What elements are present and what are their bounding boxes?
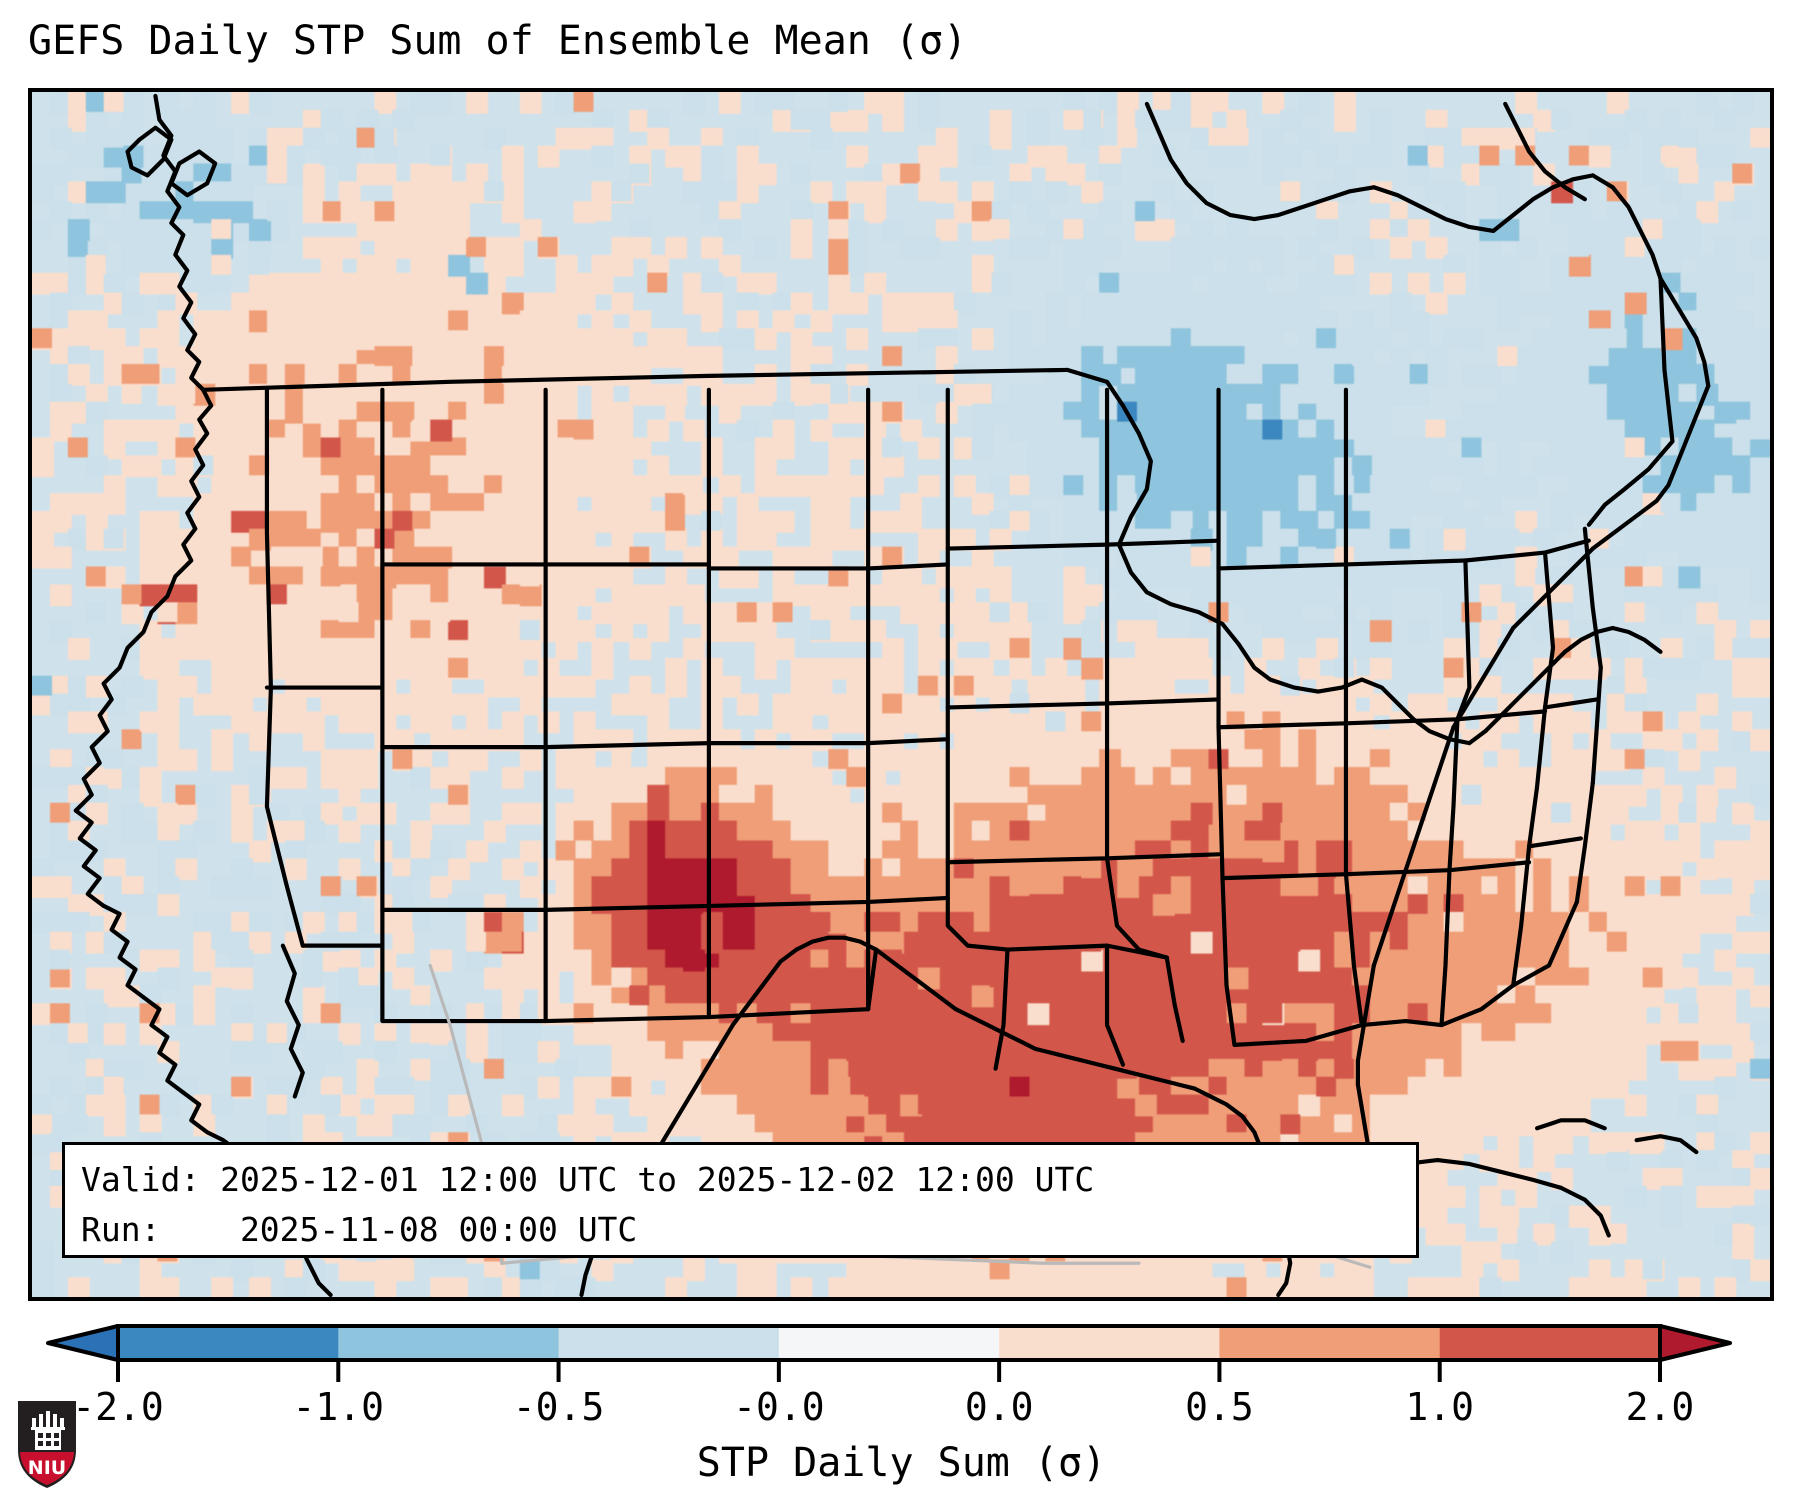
colorbar-axis-label: STP Daily Sum (σ) xyxy=(0,1440,1803,1486)
colorbar-tick-label: -2.0 xyxy=(72,1385,164,1429)
colorbar-segment xyxy=(999,1326,1220,1360)
colorbar-extend-low xyxy=(48,1326,118,1360)
colorbar-tick-label: -0.0 xyxy=(733,1385,825,1429)
niu-logo: NIU xyxy=(16,1398,78,1490)
colorbar-segment xyxy=(559,1326,780,1360)
colorbar-segment xyxy=(118,1326,339,1360)
map-panel xyxy=(28,88,1774,1301)
colorbar-tick-label: 1.0 xyxy=(1405,1385,1474,1429)
colorbar-extend-high xyxy=(1660,1326,1730,1360)
logo-text: NIU xyxy=(28,1457,66,1479)
colorbar-tick-label: 0.0 xyxy=(965,1385,1034,1429)
colorbar-tick-label: 0.5 xyxy=(1185,1385,1254,1429)
colorbar-segment xyxy=(338,1326,559,1360)
colorbar-tick-label: 2.0 xyxy=(1626,1385,1695,1429)
valid-time-line: Valid: 2025-12-01 12:00 UTC to 2025-12-0… xyxy=(81,1155,1400,1205)
colorbar-tick-label: -1.0 xyxy=(293,1385,385,1429)
colorbar-tick-label: -0.5 xyxy=(513,1385,605,1429)
colorbar-segment xyxy=(1219,1326,1440,1360)
page-title: GEFS Daily STP Sum of Ensemble Mean (σ) xyxy=(28,18,967,64)
run-time-line: Run: 2025-11-08 00:00 UTC xyxy=(81,1205,1400,1255)
valid-run-info-box: Valid: 2025-12-01 12:00 UTC to 2025-12-0… xyxy=(62,1142,1419,1258)
colorbar-segment-group xyxy=(48,1326,1730,1360)
colorbar-tick-labels: -2.0-1.0-0.5-0.00.00.51.02.0 xyxy=(0,1385,1803,1433)
colorbar-segment xyxy=(779,1326,1000,1360)
colorbar-segment xyxy=(1440,1326,1661,1360)
stp-heatmap-layer xyxy=(32,92,1770,1297)
colorbar-tick-group xyxy=(118,1360,1660,1382)
